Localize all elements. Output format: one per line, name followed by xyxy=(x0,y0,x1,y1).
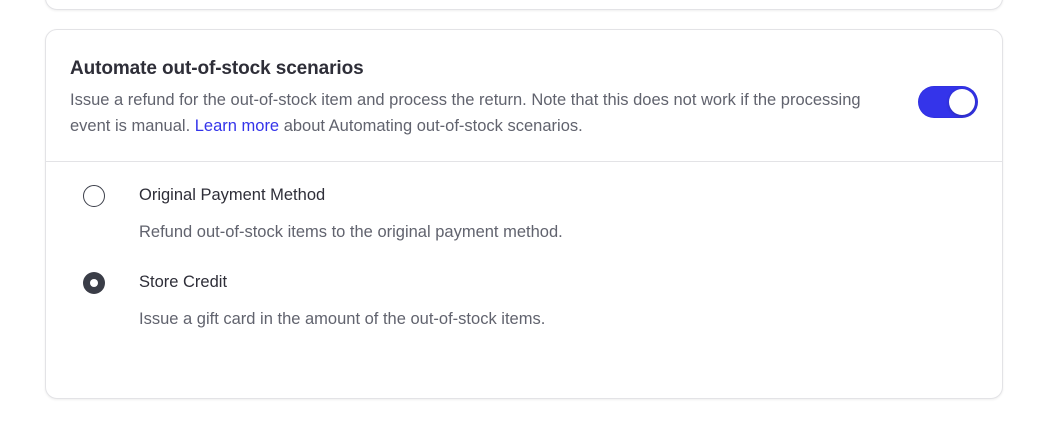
previous-settings-card xyxy=(45,0,1003,10)
learn-more-link[interactable]: Learn more xyxy=(195,117,279,135)
radio-original-payment-method[interactable] xyxy=(83,185,105,207)
radio-store-credit[interactable] xyxy=(83,272,105,294)
card-header: Automate out-of-stock scenarios Issue a … xyxy=(46,30,1002,161)
option-store-credit[interactable]: Store Credit Issue a gift card in the am… xyxy=(70,271,978,330)
option-original-payment-method[interactable]: Original Payment Method Refund out-of-st… xyxy=(70,184,978,243)
option-label[interactable]: Original Payment Method xyxy=(139,184,978,206)
option-label[interactable]: Store Credit xyxy=(139,271,978,293)
card-title: Automate out-of-stock scenarios xyxy=(70,57,900,81)
toggle-knob xyxy=(949,89,975,115)
automate-out-of-stock-toggle[interactable] xyxy=(918,86,978,118)
card-description-part-2: about Automating out-of-stock scenarios. xyxy=(279,117,583,135)
option-description: Issue a gift card in the amount of the o… xyxy=(139,308,978,330)
option-description: Refund out-of-stock items to the origina… xyxy=(139,221,978,243)
card-header-text: Automate out-of-stock scenarios Issue a … xyxy=(70,57,900,139)
automate-out-of-stock-card: Automate out-of-stock scenarios Issue a … xyxy=(45,29,1003,399)
refund-method-options: Original Payment Method Refund out-of-st… xyxy=(46,162,1002,330)
settings-page: Automate out-of-stock scenarios Issue a … xyxy=(0,0,1046,436)
card-description: Issue a refund for the out-of-stock item… xyxy=(70,87,894,139)
